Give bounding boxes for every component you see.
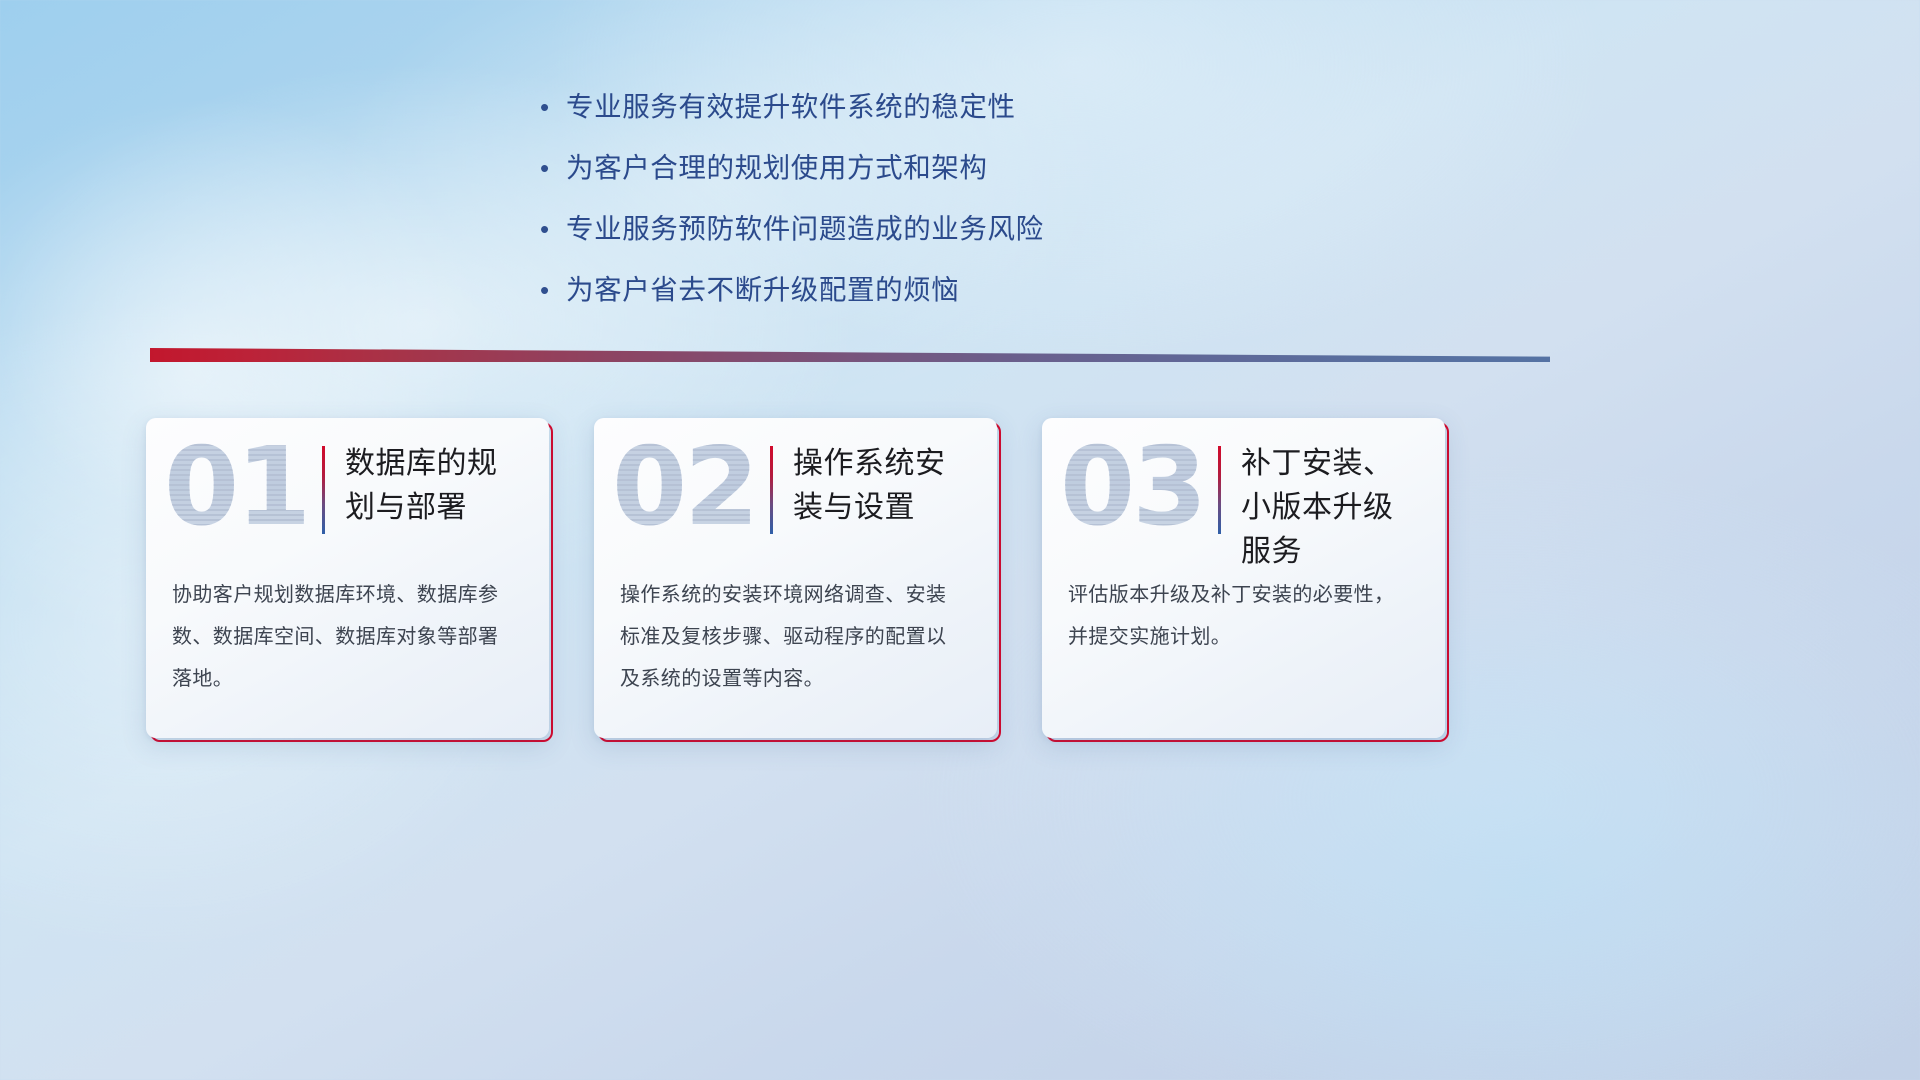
list-item: • 为客户合理的规划使用方式和架构 [540,149,1440,187]
service-card[interactable]: 03 补丁安装、小版本升级服务 评估版本升级及补丁安装的必要性，并提交实施计划。 [1046,422,1449,742]
card-title: 操作系统安装与设置 [793,442,973,530]
card-surface: 03 补丁安装、小版本升级服务 评估版本升级及补丁安装的必要性，并提交实施计划。 [1042,418,1445,738]
service-card[interactable]: 01 数据库的规划与部署 协助客户规划数据库环境、数据库参数、数据库空间、数据库… [150,422,553,742]
card-surface: 02 操作系统安装与设置 操作系统的安装环境网络调查、安装标准及复核步骤、驱动程… [594,418,997,738]
card-title-accent-bar [1218,446,1221,534]
card-header: 操作系统安装与设置 [770,442,973,534]
card-title: 数据库的规划与部署 [345,442,525,530]
card-body-text: 协助客户规划数据库环境、数据库参数、数据库空间、数据库对象等部署落地。 [172,574,512,700]
bullet-dot-icon: • [540,210,566,248]
card-number-watermark: 02 [612,434,756,542]
card-number-watermark: 03 [1060,434,1204,542]
section-divider [150,348,1550,362]
bullet-dot-icon: • [540,271,566,309]
card-surface: 01 数据库的规划与部署 协助客户规划数据库环境、数据库参数、数据库空间、数据库… [146,418,549,738]
bullet-text: 专业服务有效提升软件系统的稳定性 [566,88,1016,126]
bullet-list: • 专业服务有效提升软件系统的稳定性 • 为客户合理的规划使用方式和架构 • 专… [540,88,1440,332]
list-item: • 为客户省去不断升级配置的烦恼 [540,271,1440,309]
divider-gradient-line [150,348,1550,362]
bullet-text: 专业服务预防软件问题造成的业务风险 [566,210,1044,248]
service-card-list: 01 数据库的规划与部署 协助客户规划数据库环境、数据库参数、数据库空间、数据库… [150,422,1550,742]
list-item: • 专业服务有效提升软件系统的稳定性 [540,88,1440,126]
card-number-watermark: 01 [164,434,308,542]
card-body-text: 操作系统的安装环境网络调查、安装标准及复核步骤、驱动程序的配置以及系统的设置等内… [620,574,960,700]
bullet-dot-icon: • [540,88,566,126]
bullet-dot-icon: • [540,149,566,187]
bullet-text: 为客户省去不断升级配置的烦恼 [566,271,959,309]
card-title-accent-bar [770,446,773,534]
service-card[interactable]: 02 操作系统安装与设置 操作系统的安装环境网络调查、安装标准及复核步骤、驱动程… [598,422,1001,742]
card-header: 数据库的规划与部署 [322,442,525,534]
card-body-text: 评估版本升级及补丁安装的必要性，并提交实施计划。 [1068,574,1408,658]
bullet-text: 为客户合理的规划使用方式和架构 [566,149,988,187]
list-item: • 专业服务预防软件问题造成的业务风险 [540,210,1440,248]
card-title: 补丁安装、小版本升级服务 [1241,442,1421,574]
card-header: 补丁安装、小版本升级服务 [1218,442,1421,574]
card-title-accent-bar [322,446,325,534]
